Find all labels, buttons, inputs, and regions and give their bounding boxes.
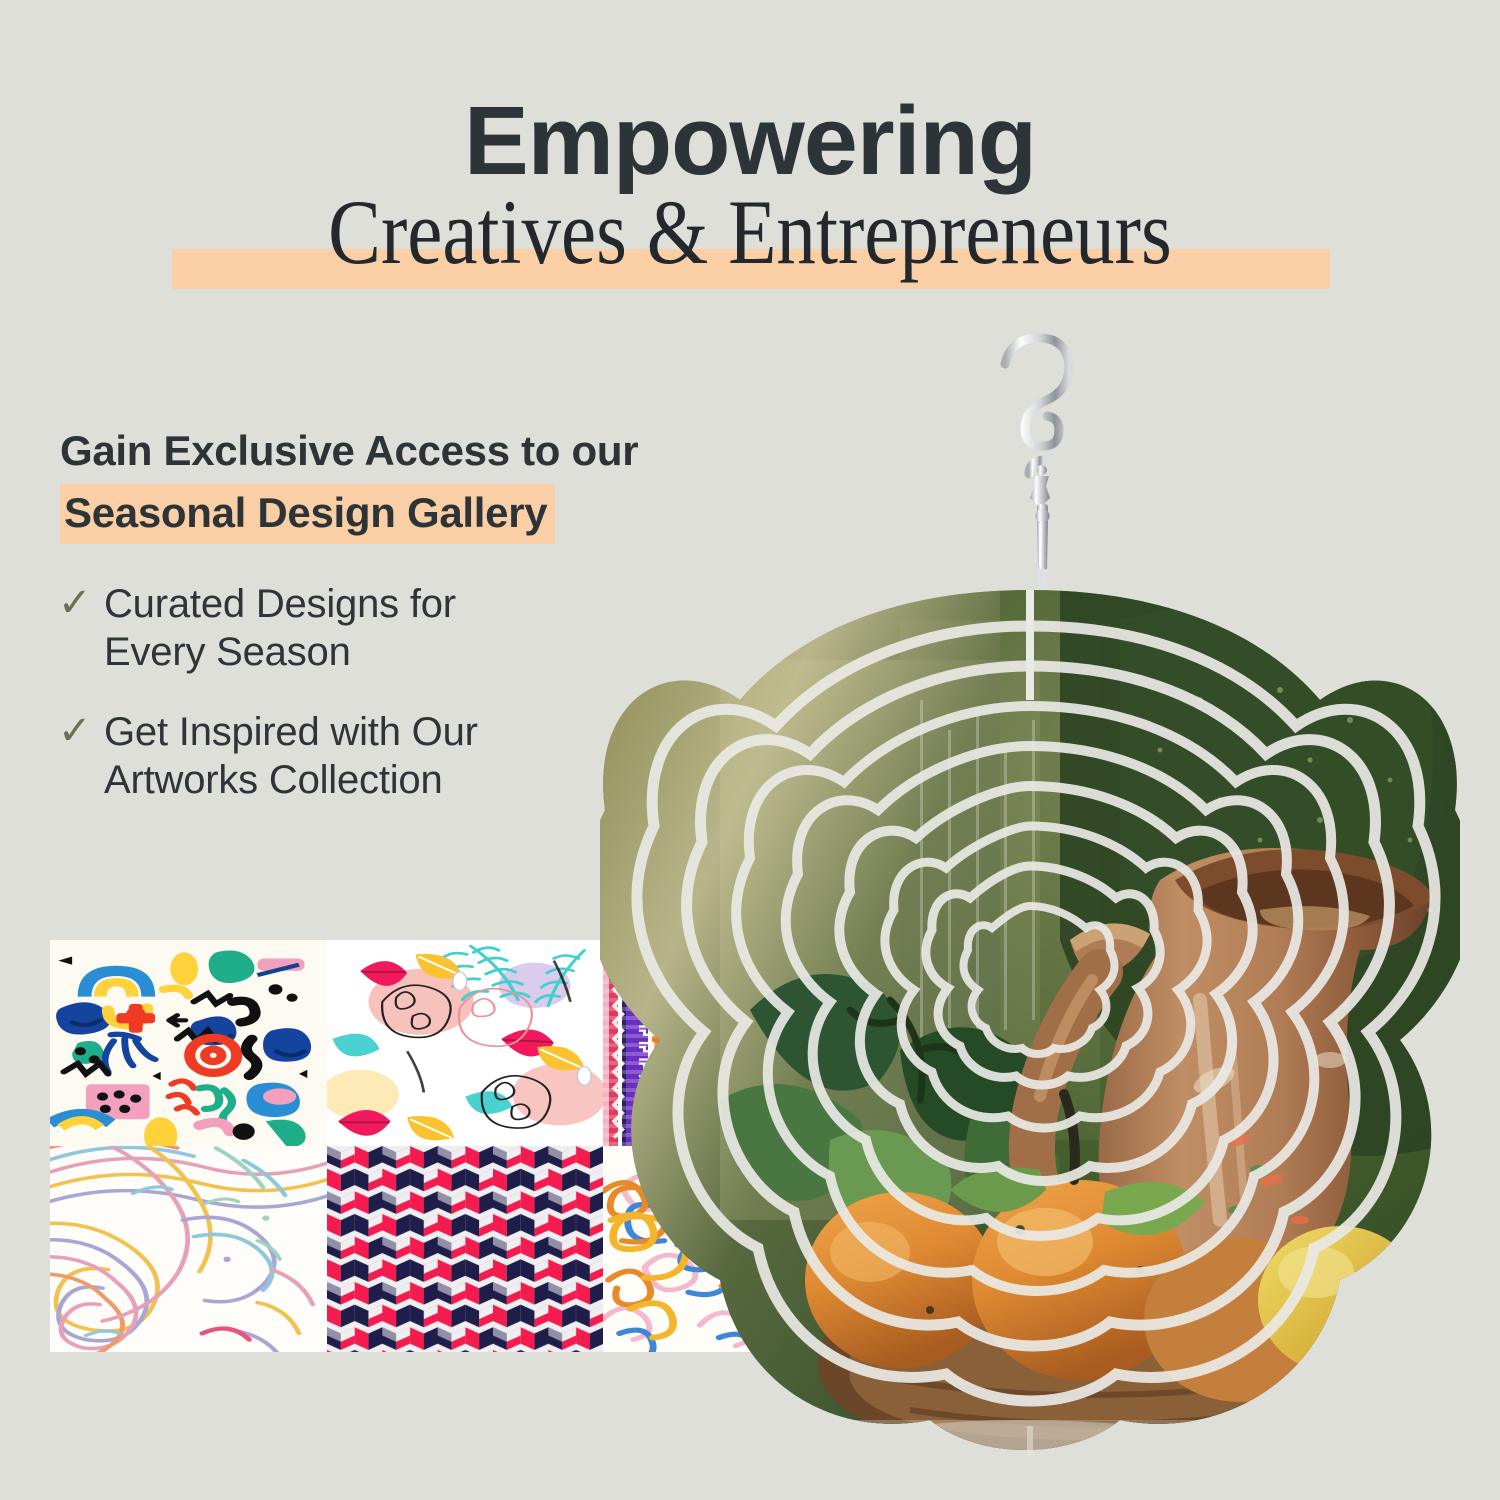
benefit-text: Curated Designs for Every Season [104,580,456,676]
check-icon: ✓ [58,708,104,755]
page-subtitle: Creatives & Entrepreneurs [105,186,1395,278]
benefit-line-2: Every Season [104,630,351,674]
spinner-disc [600,580,1460,1460]
check-icon: ✓ [58,580,104,627]
pattern-tile-tropical-leaves[interactable] [327,940,604,1146]
offer-heading-line-2: Seasonal Design Gallery [60,484,555,545]
benefit-line-1: Get Inspired with Our [104,710,478,754]
tropical-leaves-art [327,940,604,1146]
poster-canvas: Empowering Creatives & Entrepreneurs Gai… [0,0,1500,1500]
wind-spinner-product [600,330,1480,1460]
pattern-tile-geometric-blocks[interactable] [327,1146,604,1352]
benefit-line-2: Artworks Collection [104,758,443,802]
pattern-tile-pastel-wave-lines[interactable] [50,1146,327,1352]
pattern-tile-abstract-memphis-shapes[interactable] [50,940,327,1146]
benefit-text: Get Inspired with Our Artworks Collectio… [104,708,478,804]
pastel-wave-lines-art [50,1146,327,1352]
page-title: Empowering [0,92,1500,189]
benefit-line-1: Curated Designs for [104,582,456,626]
geometric-blocks-art [327,1146,604,1352]
abstract-memphis-shapes-art [50,940,327,1146]
s-hook-with-swivel-clip-icon [983,330,1103,595]
